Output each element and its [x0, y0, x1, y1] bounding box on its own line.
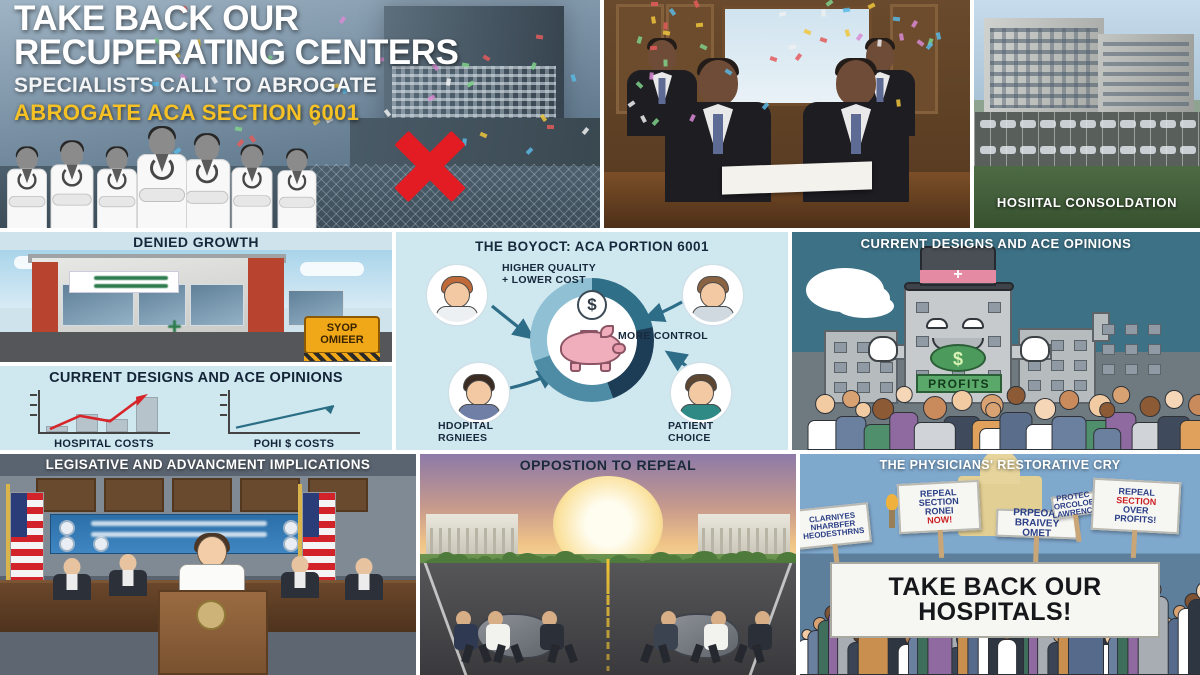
confetti-piece — [663, 30, 671, 35]
crowd-person — [912, 396, 958, 450]
hat-band-medical-cross-icon — [920, 270, 996, 283]
building-window — [857, 362, 870, 373]
agency-seal-icon — [59, 536, 75, 552]
cartoon-hand-left-icon — [868, 336, 898, 362]
building-window — [988, 336, 1001, 347]
parked-car — [1120, 146, 1136, 154]
rooftop-unit — [1092, 312, 1110, 342]
committee-member — [104, 554, 152, 596]
capitol-building-left — [426, 514, 518, 558]
parked-car — [980, 146, 996, 154]
parked-car — [1120, 120, 1136, 128]
confetti-piece — [651, 2, 658, 6]
wall-panel — [240, 478, 300, 512]
building-window — [1125, 324, 1138, 335]
person-head — [923, 396, 947, 420]
banner-line2: HOSPITALS! — [918, 600, 1072, 626]
clinic-signage — [70, 272, 178, 292]
node-label-quality: HIGHER QUALITY + LOWER COST — [502, 262, 596, 286]
road-dash — [607, 571, 610, 583]
confetti-piece — [547, 125, 554, 129]
person-body — [1188, 599, 1200, 675]
doctor-figure — [276, 150, 318, 228]
confetti-piece — [570, 74, 576, 82]
building-window — [1074, 360, 1087, 371]
hero-subhead: SPECIALISTS CALL TO ABROGATE — [14, 74, 458, 98]
person-head — [842, 390, 860, 408]
doctor-figure — [95, 148, 138, 228]
wall-panel — [172, 478, 232, 512]
protest-sign-small: PROTECORCOLOELAWRENCE — [1051, 491, 1098, 519]
person-head — [1196, 581, 1200, 601]
cartoon-eye-left-icon — [926, 318, 948, 329]
person-leg — [734, 644, 748, 664]
person-body — [997, 639, 1017, 675]
wall-panel — [36, 478, 96, 512]
dollar-medal-icon: $ — [930, 344, 986, 372]
parked-car — [1000, 146, 1016, 154]
podium-seal-icon — [196, 600, 226, 630]
chart-hospital-costs: HOSPITAL COSTS — [16, 390, 192, 448]
person-leg — [690, 644, 704, 664]
node-label-choice: PATIENT CHOICE — [668, 420, 713, 444]
person-head — [1059, 390, 1079, 410]
legislation-document — [722, 161, 872, 194]
clinic-entrance — [190, 284, 244, 326]
confetti-piece — [663, 60, 667, 67]
person-body — [1180, 420, 1200, 450]
parked-car — [1180, 146, 1196, 154]
building-window — [834, 342, 847, 353]
panel-legislative-hearing: LEGISATIVE AND ADVANCMENT IMPLICATIONS — [0, 454, 416, 675]
person-head — [1007, 386, 1026, 405]
building-window — [1051, 340, 1064, 351]
person-pushing-boulder — [688, 611, 728, 663]
clinic-accent-left — [32, 262, 58, 332]
person-pushing-boulder — [540, 611, 580, 663]
cartoon-eye-right-icon — [962, 318, 984, 329]
chart-physician-costs: POHI $ COSTS — [206, 390, 382, 448]
protest-title: THE PHYSICIANS' RESTORATIVE CRY — [800, 458, 1200, 472]
confetti-piece — [696, 23, 703, 28]
doctor-figure — [49, 142, 95, 228]
confetti-piece — [663, 23, 667, 30]
protest-sign-over-profits: REPEALSECTIONOVERPROFITS! — [1091, 478, 1182, 535]
person-pushing-boulder — [732, 611, 772, 663]
main-protest-banner: TAKE BACK OUR HOSPITALS! — [830, 562, 1160, 638]
building-window — [1125, 344, 1138, 355]
building-window — [988, 302, 1001, 313]
parked-car — [980, 120, 996, 128]
doctor-figure — [230, 146, 274, 228]
node-label-control: MORE CONTROL — [618, 330, 708, 342]
parked-car — [1020, 146, 1036, 154]
road-title: OPPOSTION TO REPEAL — [420, 457, 796, 473]
road-dash — [607, 642, 610, 649]
denied-growth-title: DENIED GROWTH — [0, 234, 392, 250]
bar-chart-label: HOSPITAL COSTS — [16, 438, 192, 450]
agency-seal-icon — [59, 520, 75, 536]
parked-car — [1160, 120, 1176, 128]
building-window — [834, 362, 847, 373]
building-window — [1125, 364, 1138, 375]
parked-car — [1080, 120, 1096, 128]
agency-seal-icon — [283, 520, 299, 536]
red-x-cross-icon — [382, 118, 478, 214]
person-leg — [640, 644, 654, 664]
parked-car — [1160, 146, 1176, 154]
panel-opposition-road: OPPOSTION TO REPEAL — [420, 454, 796, 675]
person-head — [1188, 394, 1200, 416]
hospital-building-small — [1098, 34, 1194, 114]
coin-dollar-icon: $ — [577, 290, 607, 320]
protest-sign-left: CLARNIYESNHARBFERHEODESTHRNS — [800, 502, 872, 550]
building-window — [1102, 324, 1115, 335]
building-window — [1148, 344, 1161, 355]
building-window — [916, 302, 929, 313]
parked-car — [1060, 146, 1076, 154]
person-head — [896, 386, 913, 403]
parked-car — [1020, 120, 1036, 128]
parked-car — [1080, 146, 1096, 154]
road-dash — [607, 559, 610, 572]
committee-member — [340, 558, 388, 600]
sign-center-line2: BRAIVEY OMET — [1000, 518, 1073, 541]
cloud-icon — [300, 262, 364, 276]
parked-car — [1140, 146, 1156, 154]
cartoon-title: CURRENT DESIGNS AND ACE OPINIONS — [792, 236, 1200, 251]
panel-cost-charts: CURRENT DESIGNS AND ACE OPINIONS HOSPITA… — [0, 366, 392, 450]
torch-icon — [886, 494, 898, 528]
node-avatar-hospital — [452, 366, 506, 420]
infographic-canvas: TAKE BACK OUR RECUPERATING CENTERS SPECI… — [0, 0, 1200, 675]
hospital-building-large — [984, 18, 1104, 114]
agency-seal-icon — [283, 536, 299, 552]
medical-cross-icon — [144, 316, 157, 329]
confetti-piece — [896, 99, 901, 106]
road-dash — [607, 630, 610, 638]
road-dash — [607, 654, 610, 660]
node-label-hospital: HDOPITAL RGNIEES — [438, 420, 493, 444]
protest-sign-repeal-now: REPEALSECTIONRONEINOW! — [897, 480, 982, 534]
person-head — [1099, 402, 1115, 418]
hearing-title: LEGISATIVE AND ADVANCMENT IMPLICATIONS — [0, 457, 416, 472]
road-dash — [607, 607, 610, 617]
person-body — [858, 632, 889, 675]
building-window — [1148, 364, 1161, 375]
person-head — [815, 394, 835, 414]
crowd-person — [1092, 402, 1122, 450]
person-body — [1093, 428, 1121, 450]
crowd-person — [1050, 390, 1088, 450]
hospital-consolidation-caption: HOSIITAL CONSOLDATION — [974, 195, 1200, 210]
doctor-figure — [5, 148, 48, 228]
panel-hospital-consolidation: HOSIITAL CONSOLDATION — [974, 0, 1200, 228]
piggy-bank-icon — [556, 321, 628, 367]
confetti-piece — [822, 10, 826, 17]
committee-member — [48, 558, 96, 600]
road-dash — [607, 666, 610, 671]
parked-car — [1140, 120, 1156, 128]
road-dash — [607, 595, 610, 605]
parked-car — [1100, 120, 1116, 128]
parked-car — [1060, 120, 1076, 128]
building-window — [1102, 344, 1115, 355]
crowd-person — [1178, 394, 1200, 450]
thought-bubble-icon — [806, 268, 884, 312]
node-avatar-quality — [430, 268, 484, 322]
road-dash — [607, 618, 610, 627]
road-dash — [607, 583, 610, 594]
doctor-figure — [182, 135, 232, 228]
panel-bill-signing-photo — [604, 0, 970, 228]
sign-over-profits-line4: PROFITS! — [1114, 514, 1156, 525]
building-window — [1051, 360, 1064, 371]
building-window — [1148, 324, 1161, 335]
panel-denied-growth: SYOP OMIEER DENIED GROWTH — [0, 232, 392, 362]
person-leg — [564, 644, 578, 664]
panel-protest-rally: CLARNIYESNHARBFERHEODESTHRNS REPEALSECTI… — [800, 454, 1200, 675]
parked-car — [1040, 146, 1056, 154]
doctor-figure — [135, 128, 189, 228]
parked-car — [1000, 120, 1016, 128]
hero-text-block: TAKE BACK OUR RECUPERATING CENTERS SPECI… — [14, 2, 458, 126]
node-avatar-control — [686, 268, 740, 322]
stop-sign-line2: OMIEER — [320, 335, 363, 347]
person-pushing-boulder — [486, 611, 526, 663]
panel-hero-headline: TAKE BACK OUR RECUPERATING CENTERS SPECI… — [0, 0, 600, 228]
confetti-piece — [936, 32, 941, 40]
building-window — [1074, 340, 1087, 351]
building-window — [916, 336, 929, 347]
wall-panel — [104, 478, 164, 512]
building-window — [880, 362, 893, 373]
charts-title: CURRENT DESIGNS AND ACE OPINIONS — [0, 366, 392, 386]
stop-order-barricade-sign: SYOP OMIEER — [306, 318, 378, 352]
building-window — [1102, 364, 1115, 375]
parked-car — [1100, 146, 1116, 154]
parking-lot — [974, 112, 1200, 170]
protester — [1186, 581, 1200, 675]
panel-boycott-diagram: THE BOYOCT: ACA PORTION 6001 $ — [396, 232, 788, 450]
node-avatar-choice — [674, 366, 728, 420]
parked-car — [1180, 120, 1196, 128]
person-body — [1052, 416, 1087, 450]
agency-seal-icon — [93, 536, 109, 552]
us-flag-left — [10, 492, 44, 584]
clinic-accent-right — [248, 258, 284, 332]
hero-headline-line1: TAKE BACK OUR — [14, 2, 458, 36]
person-leg — [510, 644, 524, 664]
hero-headline-line2: RECUPERATING CENTERS — [14, 36, 458, 70]
confetti-piece — [649, 73, 654, 80]
cartoon-hand-right-icon — [1020, 336, 1050, 362]
banner-line1: TAKE BACK OUR — [888, 575, 1101, 601]
parked-car — [1040, 120, 1056, 128]
doctors-group-photo — [0, 108, 360, 228]
person-pushing-boulder — [638, 611, 678, 663]
committee-member — [276, 556, 324, 598]
person-body — [914, 422, 956, 450]
sign-repeal-now-line4: NOW! — [927, 515, 952, 525]
panel-greedy-hospital-cartoon: CURRENT DESIGNS AND ACE OPINIONS $ PROFI… — [792, 232, 1200, 450]
line-chart-label: POHI $ COSTS — [206, 438, 382, 450]
